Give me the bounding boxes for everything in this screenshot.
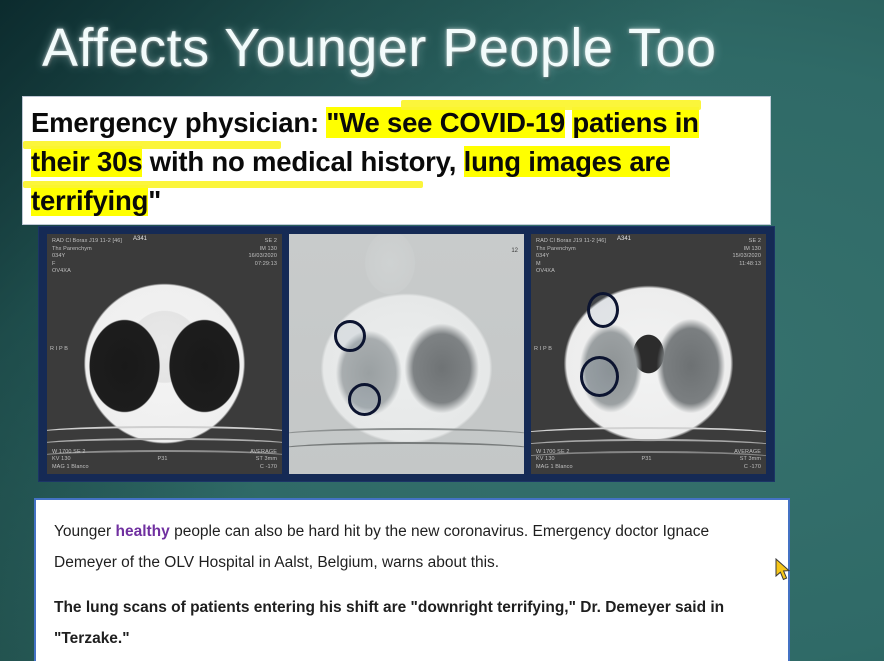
healthy-link[interactable]: healthy — [116, 523, 170, 540]
article-paragraph-2: The lung scans of patients entering his … — [54, 592, 770, 654]
ct-metadata-side-left: R I P B — [50, 345, 68, 353]
ct-metadata-bottom-center: P31 — [157, 456, 167, 464]
article-paragraph-1: Younger healthy people can also be hard … — [54, 516, 770, 578]
headline-part-4: with no medical history, — [142, 146, 456, 177]
headline-text: Emergency physician: "We see COVID-19 pa… — [31, 103, 762, 220]
ct-metadata-bottom-right: AVERAGE ST 3mm C -170 — [250, 449, 277, 472]
ct-metadata-side-left: R I P B — [534, 345, 552, 353]
headline-card: Emergency physician: "We see COVID-19 pa… — [23, 97, 770, 224]
ct-metadata-top-right: SE 2 IM 130 16/03/2020 07:29:13 — [248, 238, 277, 268]
presentation-slide: Affects Younger People Too Emergency phy… — [0, 0, 884, 661]
page-title: Affects Younger People Too — [42, 20, 842, 77]
ct-scan-middle-covid: 12 — [289, 234, 524, 474]
ct-metadata-bottom-left: W 1700 SE 2 KV 130 MAG 1 Blanco — [52, 449, 89, 472]
lesion-marker-lower — [348, 383, 381, 416]
article-card: Younger healthy people can also be hard … — [34, 498, 790, 661]
ct-metadata-top-left: RAD Cl Borax J19 11-2 [46] Thx Parenchym… — [536, 238, 606, 276]
ct-metadata-bottom-right: AVERAGE ST 3mm C -170 — [734, 449, 761, 472]
ct-metadata-tag: A341 — [133, 236, 147, 242]
ct-metadata-tag: A341 — [617, 236, 631, 242]
ct-metadata-top-right: SE 2 IM 130 15/03/2020 11:48:13 — [732, 238, 761, 268]
article-paragraph-1-prefix: Younger — [54, 523, 116, 540]
ct-metadata-tag: 12 — [511, 248, 518, 254]
ct-metadata-top-left: RAD Cl Borax J19 11-2 [46] Thx Parenchym… — [52, 238, 122, 276]
headline-part-6: " — [148, 185, 161, 216]
ct-scan-left-normal: RAD Cl Borax J19 11-2 [46] Thx Parenchym… — [47, 234, 282, 474]
ct-scan-right-covid: RAD Cl Borax J19 11-2 [46] Thx Parenchym… — [531, 234, 766, 474]
ct-metadata-bottom-center: P31 — [641, 456, 651, 464]
ct-metadata-bottom-left: W 1700 SE 2 KV 130 MAG 1 Blanco — [536, 449, 573, 472]
headline-part-1: Emergency physician: — [31, 107, 326, 138]
headline-part-2-highlighted: "We see COVID-19 — [326, 107, 565, 138]
lesion-marker-upper — [587, 292, 619, 328]
ct-scan-panel: RAD Cl Borax J19 11-2 [46] Thx Parenchym… — [38, 226, 775, 482]
lung-cross-section-covid-middle — [289, 234, 524, 474]
lesion-marker-upper — [334, 320, 366, 352]
